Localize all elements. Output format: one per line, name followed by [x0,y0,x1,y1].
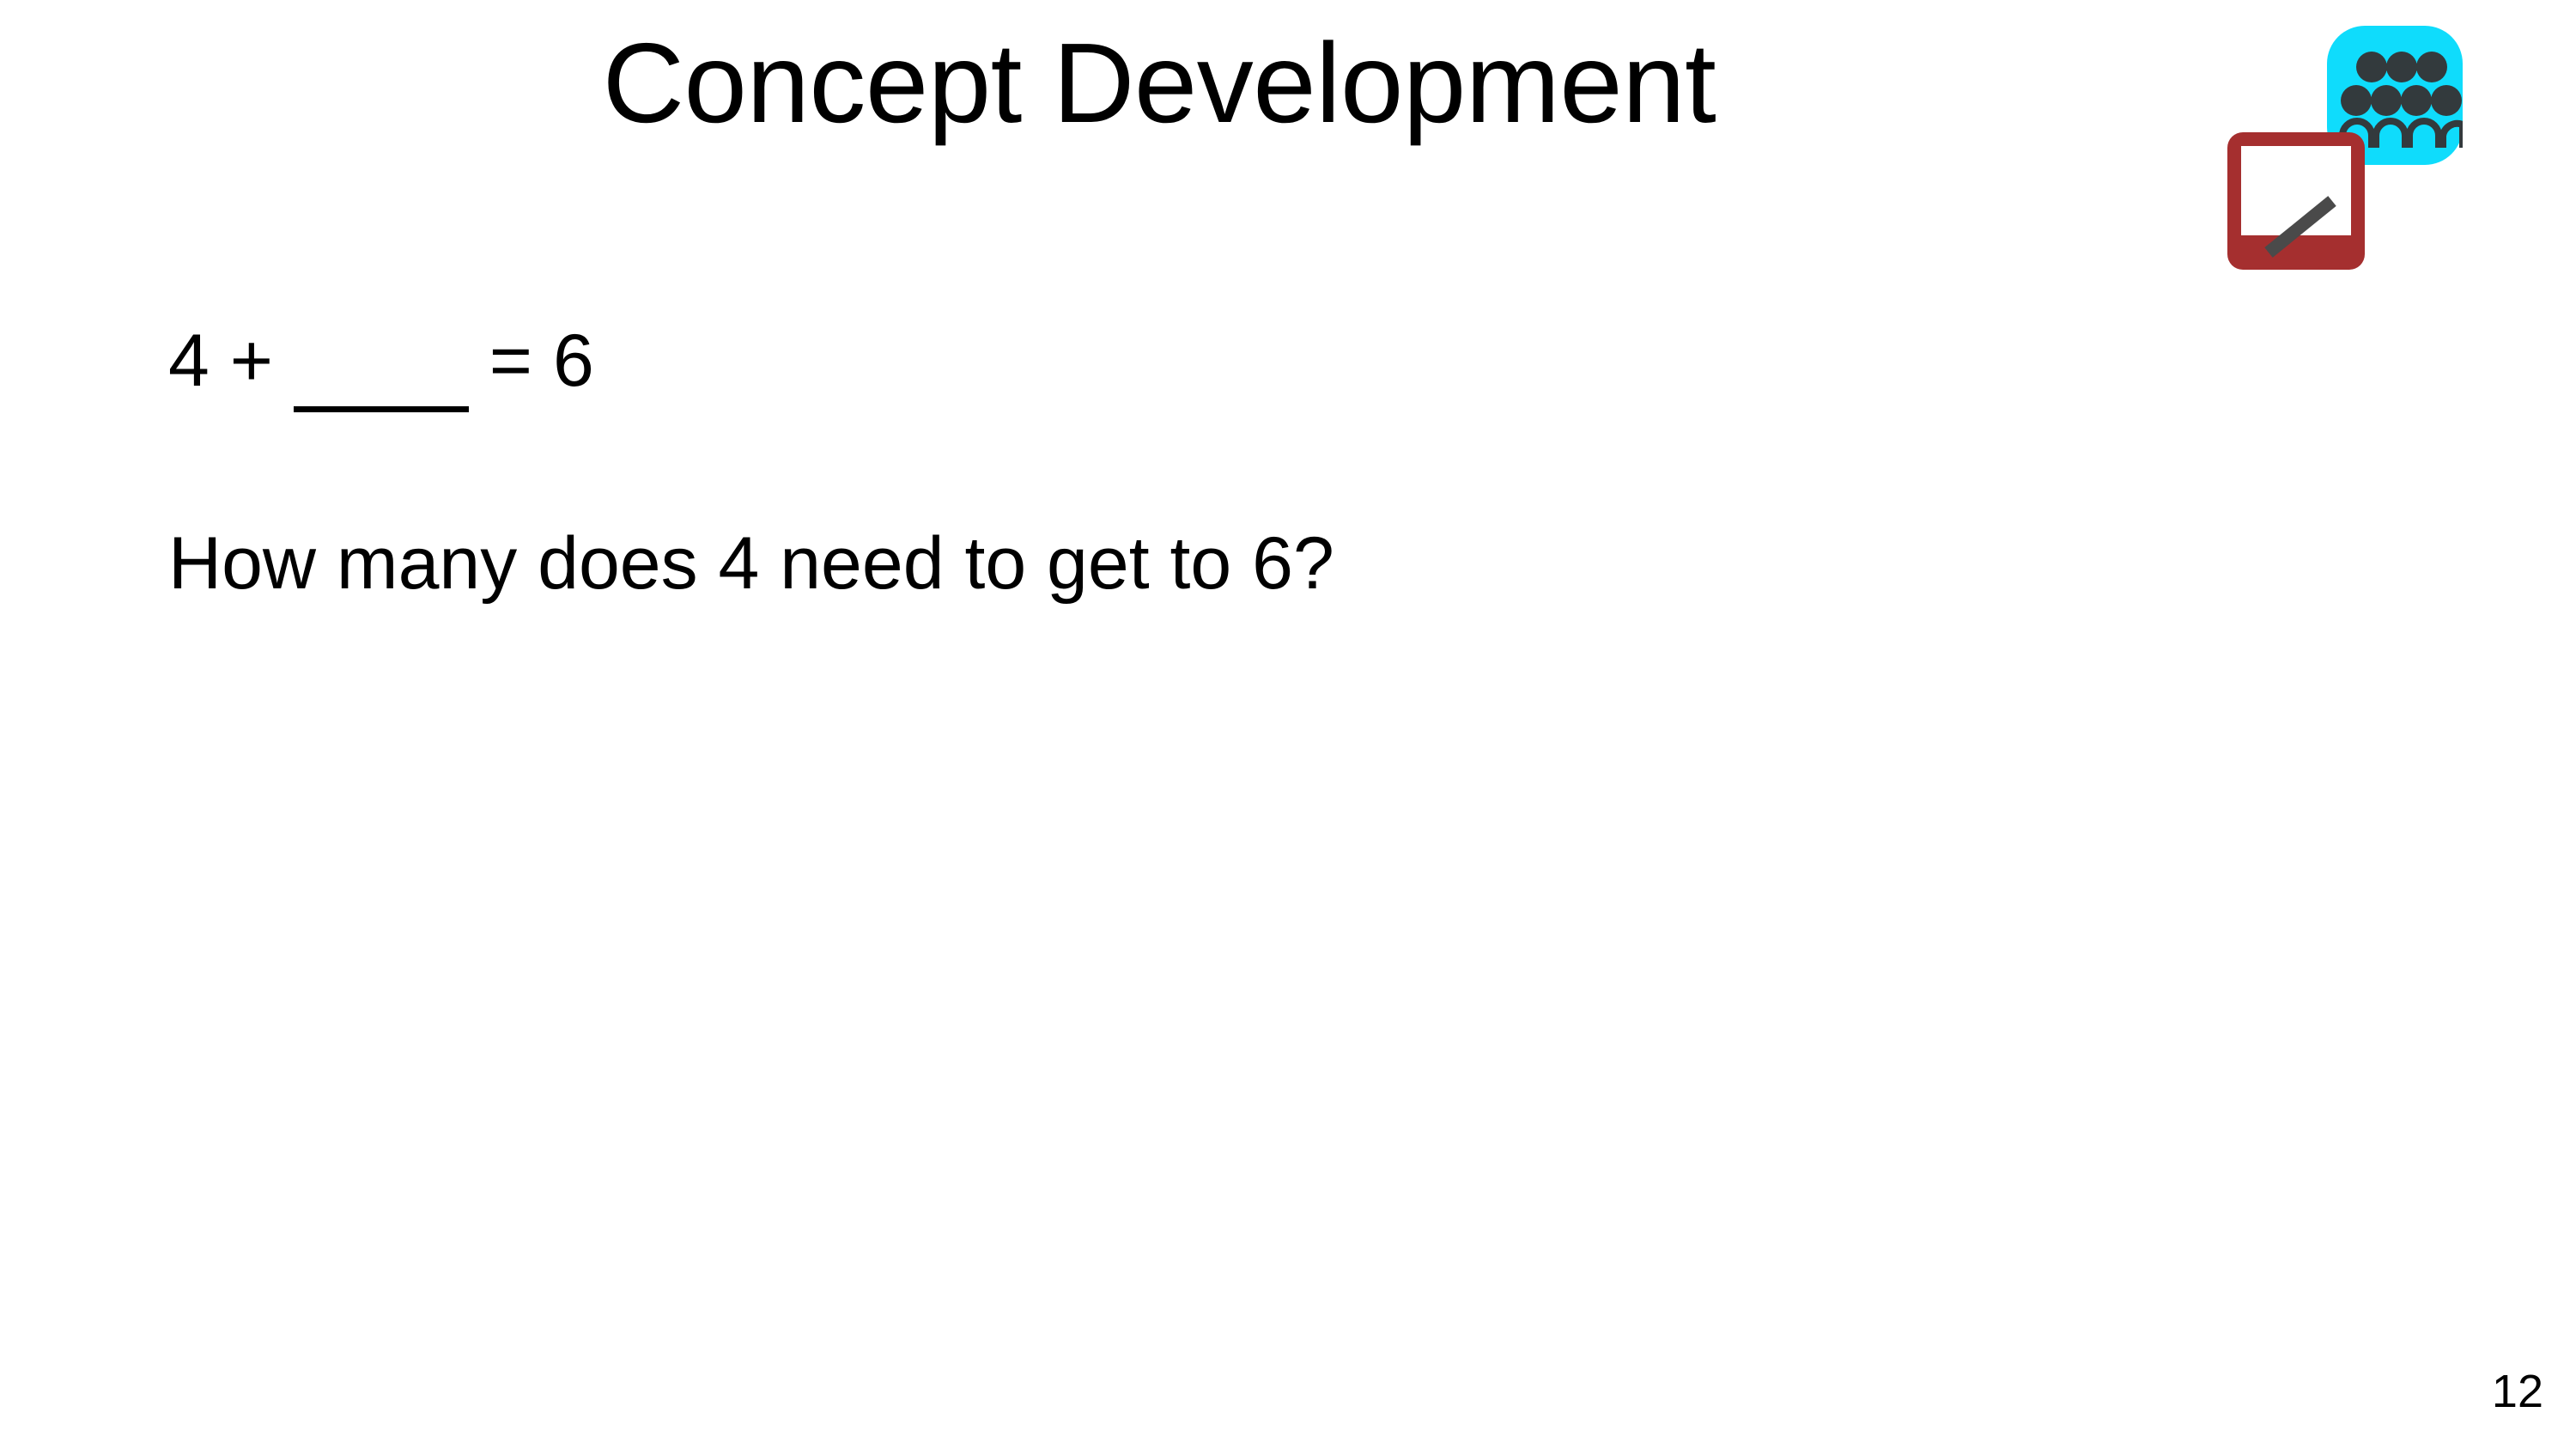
equation-spacer-2 [273,320,294,402]
page-number: 12 [2492,1368,2543,1415]
whiteboard-stylus-icon [2227,132,2365,270]
page-title: Concept Development [0,22,2318,145]
question-line: How many does 4 need to get to 6? [168,522,2143,605]
equation-spacer-4 [532,320,553,402]
slide-body: 4 + = 6 How many does 4 need to get to 6… [168,320,2143,606]
equation-line: 4 + = 6 [168,320,2143,402]
equation-blank[interactable] [294,320,469,402]
icon-cluster [2226,22,2483,280]
equation-equals-sign: = [489,320,532,402]
equation-plus-sign: + [230,320,273,402]
equation-left-operand: 4 [168,320,210,402]
slide-canvas: Concept Development 4 + = 6 How many doe… [0,0,2576,1449]
equation-right-operand: 6 [553,320,594,402]
equation-spacer-1 [210,320,230,402]
equation-spacer-3 [469,320,489,402]
